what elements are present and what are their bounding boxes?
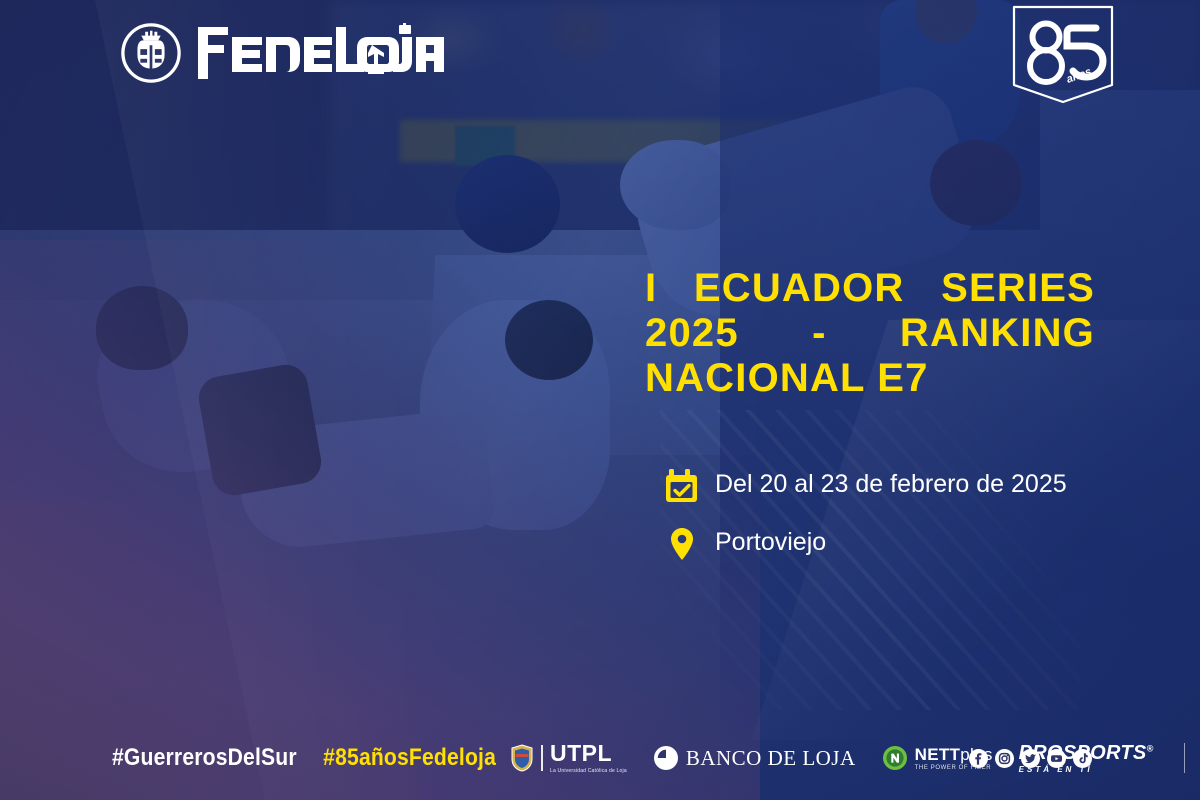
nettplus-title-a: NETT xyxy=(915,745,961,764)
utpl-title: UTPL xyxy=(550,742,627,765)
event-date-text: Del 20 al 23 de febrero de 2025 xyxy=(715,468,1067,501)
instagram-icon[interactable] xyxy=(995,749,1014,768)
footer-divider xyxy=(1184,743,1185,773)
sponsor-utpl[interactable]: UTPL La Universidad Católica de Loja xyxy=(510,742,627,774)
social-icon-row xyxy=(969,749,1092,768)
map-pin-icon xyxy=(665,526,699,562)
utpl-crest-icon xyxy=(510,744,534,772)
spartan-helmet-icon xyxy=(120,22,182,84)
anniversary-85-badge: años xyxy=(1010,4,1116,108)
twitter-icon[interactable] xyxy=(1021,749,1040,768)
event-poster: años I ECUADOR SERIES 2025 - RANKING NAC… xyxy=(0,0,1200,800)
nettplus-icon xyxy=(882,745,908,771)
sponsor-banco-de-loja[interactable]: BANCO DE LOJA xyxy=(653,745,856,771)
banco-de-loja-title: BANCO DE LOJA xyxy=(686,746,856,771)
calendar-check-icon xyxy=(665,468,699,504)
utpl-divider xyxy=(541,745,543,771)
hero-title-block: I ECUADOR SERIES 2025 - RANKING NACIONAL… xyxy=(645,266,1095,402)
tiktok-icon[interactable] xyxy=(1073,749,1092,768)
event-details: Del 20 al 23 de febrero de 2025 Portovie… xyxy=(665,468,1095,584)
banco-de-loja-icon xyxy=(653,745,679,771)
title-line-1: I ECUADOR SERIES xyxy=(645,266,1095,311)
event-date-row: Del 20 al 23 de febrero de 2025 xyxy=(665,468,1095,504)
youtube-icon[interactable] xyxy=(1047,749,1066,768)
brand-lockup xyxy=(120,22,446,84)
event-location-row: Portoviejo xyxy=(665,526,1095,562)
hashtag-guerreros: #GuerrerosDelSur xyxy=(112,744,297,772)
utpl-subtitle: La Universidad Católica de Loja xyxy=(550,768,627,774)
footer: #GuerrerosDelSur #85añosFedeloja UTPL La… xyxy=(0,708,1200,800)
hashtag-85anos: #85añosFedeloja xyxy=(323,744,496,772)
anniversary-word: años xyxy=(1065,66,1093,86)
fedeloja-wordmark xyxy=(196,23,446,83)
facebook-icon[interactable] xyxy=(969,749,988,768)
page-title: I ECUADOR SERIES 2025 - RANKING NACIONAL… xyxy=(645,266,1095,402)
title-line-2: 2025 - RANKING xyxy=(645,311,1095,356)
prosports-trademark: ® xyxy=(1147,743,1154,753)
event-location-text: Portoviejo xyxy=(715,526,826,559)
hashtag-group: #GuerrerosDelSur #85añosFedeloja xyxy=(112,744,496,772)
title-line-3: NACIONAL E7 xyxy=(645,356,1095,401)
